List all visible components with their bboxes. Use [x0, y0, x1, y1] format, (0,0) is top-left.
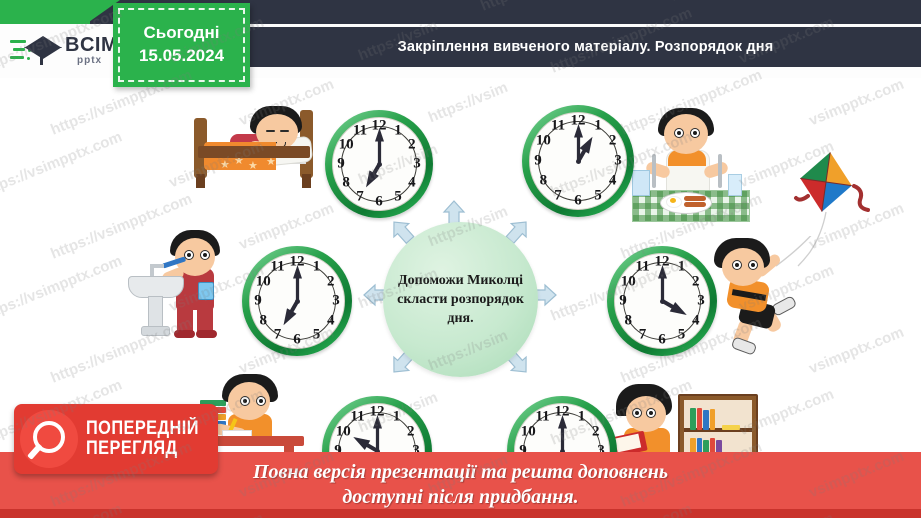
- sausage-2: [684, 202, 706, 207]
- tooth-cup: [198, 282, 214, 300]
- clock-numeral: 4: [692, 312, 700, 329]
- clock-numeral: 8: [259, 312, 267, 329]
- clock-numeral: 11: [635, 259, 649, 276]
- kite-boy-eye-left: [732, 260, 742, 270]
- clock-center-pin: [295, 299, 300, 304]
- clock-numeral: 11: [350, 409, 364, 426]
- kite-boy-head: [722, 248, 764, 286]
- date-label: Сьогодні: [144, 22, 220, 45]
- clock-numeral: 5: [594, 187, 602, 204]
- graduation-cap-icon: [10, 31, 62, 71]
- clock-numeral: 11: [551, 118, 565, 135]
- clock-numeral: 1: [678, 259, 686, 276]
- clock-numeral: 1: [578, 409, 586, 426]
- clock-numeral: 5: [313, 326, 321, 343]
- logo-sub-text: pptx: [77, 56, 118, 66]
- sink-basin: [128, 276, 184, 298]
- clock-numeral: 10: [336, 423, 351, 440]
- boy-eating-breakfast-illustration: [632, 108, 748, 223]
- clock-numeral: 11: [535, 409, 549, 426]
- clock-numeral: 10: [339, 137, 354, 154]
- clock-numeral: 1: [394, 123, 402, 140]
- preview-label-line-2: ПЕРЕГЛЯД: [86, 439, 199, 459]
- homework-boy-eye-left: [240, 396, 250, 406]
- clock-lunch: 121234567891011: [522, 105, 634, 217]
- clock-numeral: 8: [624, 312, 632, 329]
- clock-minute-hand: [373, 415, 382, 451]
- clock-minute-hand: [375, 128, 384, 164]
- milk-carton: [632, 170, 650, 196]
- clock-hygiene: 121234567891011: [242, 246, 352, 356]
- clock-minute-hand: [658, 265, 667, 301]
- clock-numeral: 6: [574, 193, 582, 210]
- bed-leg-right: [302, 174, 311, 188]
- clock-numeral: 1: [393, 409, 401, 426]
- clock-numeral: 7: [274, 326, 282, 343]
- clock-numeral: 9: [534, 153, 542, 170]
- egg-yolk: [670, 198, 676, 203]
- preview-badge[interactable]: ПОПЕРЕДНІЙ ПЕРЕГЛЯД: [14, 404, 218, 474]
- clock-numeral: 10: [256, 273, 271, 290]
- bed-frame: [198, 146, 310, 158]
- hub-circle: Допоможи Миколці скласти розпорядок дня.: [383, 222, 538, 377]
- clock-numeral: 5: [394, 188, 402, 205]
- clock-numeral: 8: [540, 173, 548, 190]
- clock-numeral: 11: [270, 259, 284, 276]
- clock-numeral: 9: [337, 156, 345, 173]
- clock-numeral: 2: [408, 137, 416, 154]
- homework-boy-eye-right: [256, 396, 266, 406]
- clock-numeral: 2: [609, 133, 617, 150]
- clock-numeral: 4: [609, 173, 617, 190]
- preview-label-line-1: ПОПЕРЕДНІЙ: [86, 419, 199, 439]
- clock-numeral: 1: [594, 118, 602, 135]
- eating-boy-eye-right: [690, 128, 700, 138]
- reading-boy-eye-left: [632, 408, 642, 418]
- eating-boy-eye-left: [674, 128, 684, 138]
- banner-line-2: доступні після придбання.: [342, 485, 578, 510]
- slipper-left: [174, 330, 195, 338]
- clock-numeral: 2: [592, 423, 600, 440]
- clock-numeral: 7: [356, 188, 364, 205]
- clock-numeral: 3: [614, 153, 622, 170]
- sleeping-boy-eye-right: [280, 130, 289, 132]
- clock-numeral: 6: [375, 194, 383, 211]
- clock-numeral: 9: [254, 293, 262, 310]
- date-value: 15.05.2024: [139, 45, 224, 68]
- brushing-boy-eye-right: [200, 250, 210, 260]
- sink-pedestal: [148, 296, 163, 330]
- clock-numeral: 5: [678, 326, 686, 343]
- clock-numeral: 11: [353, 123, 367, 140]
- clock-numeral: 10: [521, 423, 536, 440]
- clock-numeral: 4: [327, 312, 335, 329]
- hub-instruction-text: Допоможи Миколці скласти розпорядок дня.: [383, 271, 538, 329]
- clock-numeral: 2: [407, 423, 415, 440]
- clock-center-pin: [377, 162, 382, 167]
- logo-brand-text: BCIM: [65, 35, 118, 55]
- clock-wake-up: 121234567891011: [325, 110, 433, 218]
- page-title: Закріплення вивченого матеріалу. Розпоря…: [250, 27, 921, 67]
- clock-minute-hand: [293, 265, 302, 301]
- clock-numeral: 8: [342, 175, 350, 192]
- clock-numeral: 9: [619, 293, 627, 310]
- header-green-strip: [0, 0, 90, 24]
- reading-boy-eye-right: [646, 408, 656, 418]
- date-badge: Сьогодні 15.05.2024: [113, 3, 250, 87]
- clock-numeral: 6: [293, 332, 301, 349]
- boy-flying-kite-illustration: [706, 236, 816, 356]
- banner-line-1: Повна версія презентації та решта доповн…: [253, 460, 668, 485]
- clock-center-pin: [660, 299, 665, 304]
- drinking-glass: [728, 174, 742, 196]
- clock-numeral: 4: [408, 175, 416, 192]
- fork-icon: [718, 154, 722, 188]
- knife-icon: [652, 154, 656, 188]
- sink-base: [141, 326, 170, 336]
- clock-numeral: 3: [332, 293, 340, 310]
- center-hub: Допоможи Миколці скласти розпорядок дня.: [383, 222, 538, 377]
- clock-numeral: 2: [327, 273, 335, 290]
- clock-numeral: 3: [413, 156, 421, 173]
- clock-numeral: 6: [658, 332, 666, 349]
- clock-play: 121234567891011: [607, 246, 717, 356]
- clock-numeral: 10: [536, 133, 551, 150]
- slipper-right: [196, 330, 217, 338]
- clock-center-pin: [576, 159, 581, 164]
- clock-numeral: 2: [692, 273, 700, 290]
- clock-numeral: 10: [621, 273, 636, 290]
- clock-minute-hand: [558, 415, 567, 451]
- clock-numeral: 1: [313, 259, 321, 276]
- slide-header: Закріплення вивченого матеріалу. Розпоря…: [0, 0, 921, 78]
- kite-boy-eye-right: [748, 260, 758, 270]
- clock-numeral: 3: [697, 293, 705, 310]
- bed-leg-left: [196, 174, 205, 188]
- sleeping-boy-in-bed-illustration: ★ ★ ★ ★ ★ ★: [190, 102, 320, 202]
- sausage-1: [684, 196, 706, 201]
- clock-numeral: 7: [554, 187, 562, 204]
- clock-numeral: 7: [639, 326, 647, 343]
- eating-boy-head: [664, 114, 708, 154]
- clock-minute-hand: [574, 124, 583, 161]
- brand-logo[interactable]: BCIM pptx: [10, 28, 130, 73]
- boy-brushing-teeth-illustration: [128, 230, 238, 342]
- sleeping-boy-eye-left: [266, 130, 275, 132]
- magnifier-icon: [20, 410, 78, 468]
